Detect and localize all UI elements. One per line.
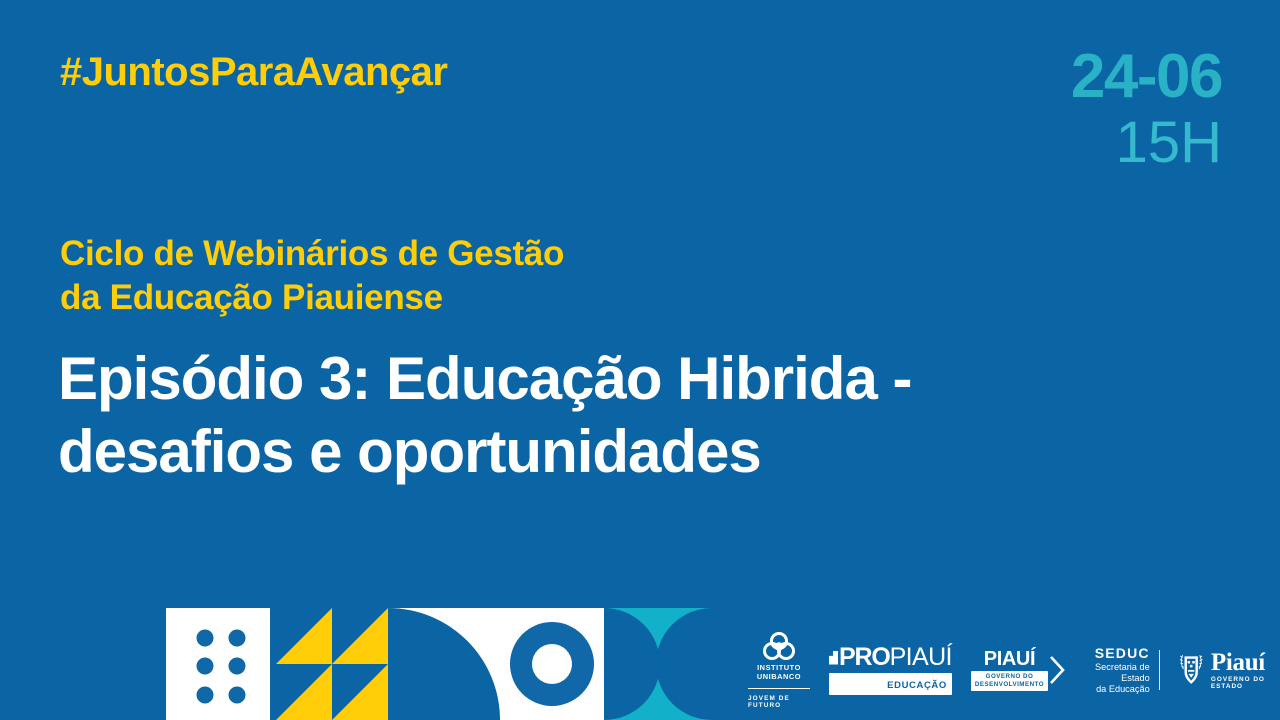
dice-six-tile: [166, 608, 270, 720]
seduc-text: SEDUC Secretaria de Estado da Educação: [1084, 645, 1150, 696]
blue-ring-tile: [500, 608, 604, 720]
logo-piaui-estado: Piauí GOVERNO DO ESTADO: [1178, 647, 1280, 693]
event-date-block: 24-06 15H: [1071, 46, 1222, 172]
piaui-dev-bar: GOVERNO DO DESENVOLVIMENTO: [971, 671, 1048, 691]
trefoil-knot-icon: [762, 631, 796, 661]
piaui-dev-title: PIAUÍ: [971, 649, 1048, 669]
series-line-2: da Educação Piauiense: [60, 276, 564, 320]
logo-pro-piaui: PRO PIAUÍ EDUCAÇÃO: [829, 645, 952, 695]
title-line-1: Episódio 3: Educação Hibrida -: [58, 342, 911, 415]
piaui-estado-text: Piauí GOVERNO DO ESTADO: [1211, 650, 1280, 690]
chevron-right-icon: [1050, 655, 1065, 685]
campaign-hashtag: #JuntosParaAvançar: [60, 52, 447, 92]
pro-flag-icon: [829, 651, 838, 665]
partner-logo-strip: INSTITUTO UNIBANCO JOVEM DE FUTURO PRO P…: [748, 633, 1280, 707]
state-coat-of-arms-icon: [1178, 647, 1204, 693]
yellow-triangle-grid: [276, 608, 388, 720]
pro-piaui-bar-label: EDUCAÇÃO: [887, 680, 947, 691]
piaui-dev-stack: PIAUÍ GOVERNO DO DESENVOLVIMENTO: [971, 649, 1048, 691]
poster-canvas: #JuntosParaAvançar 24-06 15H Ciclo de We…: [0, 0, 1280, 720]
divider: [1159, 650, 1160, 690]
piaui-estado-name: Piauí: [1211, 650, 1280, 675]
logo-piaui-desenvolvimento: PIAUÍ GOVERNO DO DESENVOLVIMENTO: [971, 649, 1065, 691]
seduc-sub-line-2: da Educação: [1084, 684, 1150, 695]
page-title: Episódio 3: Educação Hibrida - desafios …: [58, 342, 911, 488]
white-arc-tile: [388, 608, 500, 720]
pro-piaui-light: PIAUÍ: [890, 645, 952, 670]
iu-name-line-1: INSTITUTO: [757, 663, 801, 672]
pro-piaui-bar: EDUCAÇÃO: [829, 673, 952, 695]
divider: [748, 688, 810, 689]
event-date: 24-06: [1071, 46, 1222, 108]
decorative-shape-band: [166, 608, 712, 720]
piaui-estado-sub: GOVERNO DO ESTADO: [1211, 677, 1280, 690]
teal-hourglass-tile: [604, 608, 712, 720]
series-line-1: Ciclo de Webinários de Gestão: [60, 232, 564, 276]
decorative-shapes-svg: [166, 608, 712, 720]
pro-piaui-bold: PRO: [839, 645, 890, 670]
piaui-dev-bar-line-2: DESENVOLVIMENTO: [975, 681, 1044, 689]
title-line-2: desafios e oportunidades: [58, 415, 911, 488]
logo-instituto-unibanco: INSTITUTO UNIBANCO JOVEM DE FUTURO: [748, 631, 810, 708]
seduc-sub-line-1: Secretaria de Estado: [1084, 662, 1150, 684]
instituto-unibanco-tagline: JOVEM DE FUTURO: [748, 695, 810, 709]
pro-piaui-wordmark: PRO PIAUÍ: [829, 645, 952, 670]
instituto-unibanco-name: INSTITUTO UNIBANCO: [757, 664, 801, 681]
series-subtitle: Ciclo de Webinários de Gestão da Educaçã…: [60, 232, 564, 320]
event-time: 15H: [1071, 114, 1222, 172]
seduc-name: SEDUC: [1084, 645, 1150, 662]
iu-name-line-2: UNIBANCO: [757, 672, 801, 681]
logo-seduc: SEDUC Secretaria de Estado da Educação: [1084, 645, 1159, 696]
piaui-dev-bar-line-1: GOVERNO DO: [975, 673, 1044, 681]
